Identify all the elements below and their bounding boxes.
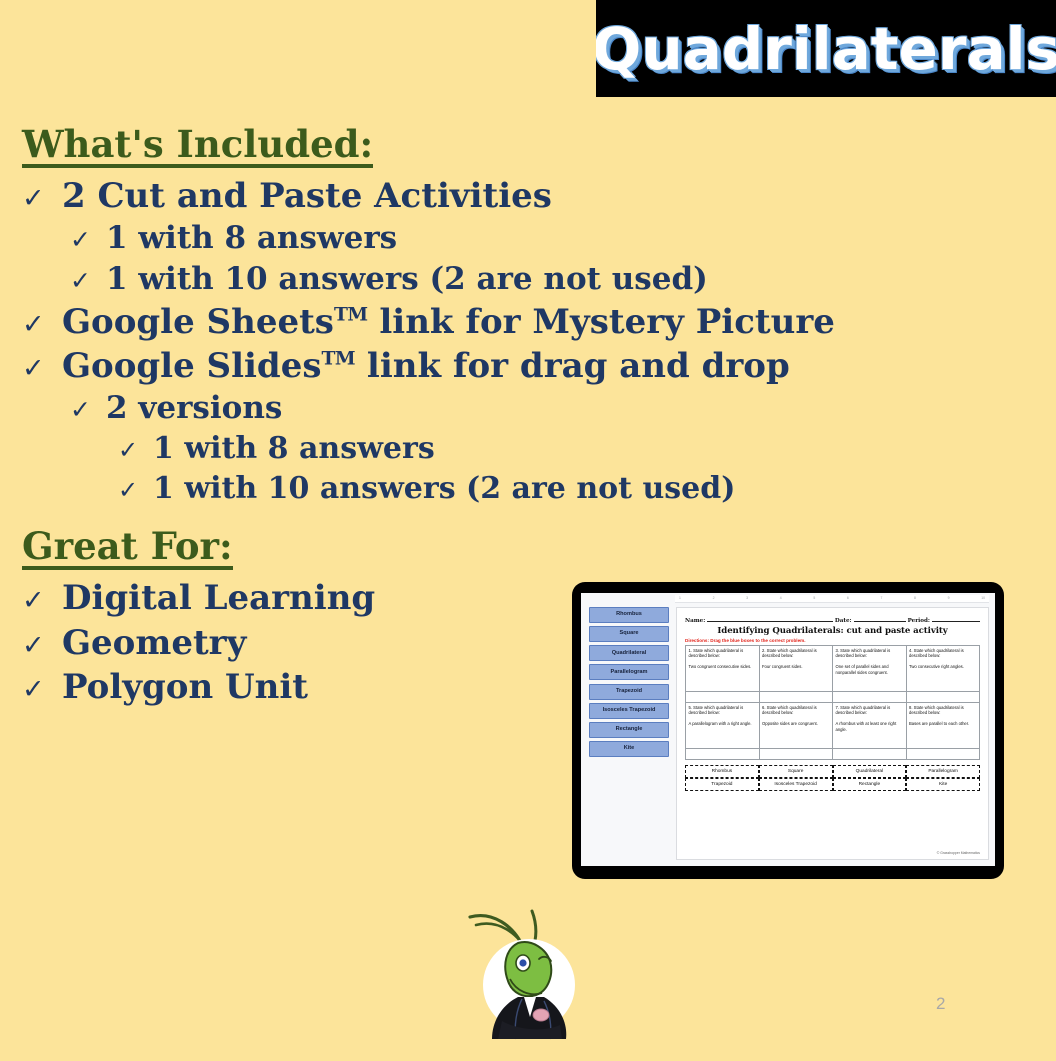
trademark-mark: TM (321, 348, 355, 370)
ruler-tick: 1 (679, 597, 681, 600)
problem-stem: 3. State which quadrilateral is describe… (836, 648, 904, 659)
drag-chip-kite[interactable]: Kite (589, 741, 669, 757)
problem-stem: 8. State which quadrilateral is describe… (909, 705, 977, 716)
list-item-label: 1 with 8 answers (106, 218, 397, 259)
list-item: ✓ 2 Cut and Paste Activities (22, 174, 902, 218)
answer-drop-zone[interactable] (833, 749, 907, 760)
answer-drop-zone[interactable] (760, 692, 834, 703)
answer-drop-zone[interactable] (833, 692, 907, 703)
worksheet-directions: Directions: Drag the blue boxes to the c… (685, 638, 980, 643)
list-item: ✓ 2 versions (22, 388, 902, 429)
problem-description: A parallelogram with a right angle. (689, 721, 757, 727)
drag-chip-parallelogram[interactable]: Parallelogram (589, 664, 669, 680)
list-item-label-suffix: link for Mystery Picture (368, 302, 835, 342)
problem-description: Bases are parallel to each other. (909, 721, 977, 727)
problem-stem: 7. State which quadrilateral is describe… (836, 705, 904, 716)
problem-description: Two congruent consecutive sides. (689, 664, 757, 670)
list-item-label: 2 Cut and Paste Activities (62, 174, 552, 218)
problem-description: A rhombus with at least one right angle. (836, 721, 904, 732)
answer-drop-zone[interactable] (686, 692, 760, 703)
problem-description: Opposite sides are congruent. (762, 721, 830, 727)
check-icon: ✓ (70, 393, 106, 426)
check-icon: ✓ (118, 475, 153, 507)
list-item-label: Google Slides (62, 346, 321, 386)
problem-cell: 2. State which quadrilateral is describe… (760, 646, 834, 692)
list-item-label: Polygon Unit (62, 665, 308, 709)
date-label: Date: (835, 618, 852, 624)
list-item-label: Geometry (62, 621, 246, 665)
problem-description: One set of parallel sides and nonparalle… (836, 664, 904, 675)
answer-bank: Rhombus Square Quadrilateral Parallelogr… (685, 765, 980, 792)
problem-description: Two consecutive right angles. (909, 664, 977, 670)
answer-drop-zone[interactable] (760, 749, 834, 760)
answer-bank-item[interactable]: Isosceles Trapezoid (759, 778, 833, 791)
problem-cell: 3. State which quadrilateral is describe… (833, 646, 907, 692)
title-banner: Quadrilaterals (596, 0, 1056, 97)
ruler-tick: 7 (880, 597, 882, 600)
list-item-label: 1 with 10 answers (2 are not used) (153, 469, 735, 509)
check-icon: ✓ (70, 223, 106, 256)
drag-chip-trapezoid[interactable]: Trapezoid (589, 684, 669, 700)
ruler-tick: 5 (813, 597, 815, 600)
answer-bank-item[interactable]: Kite (906, 778, 980, 791)
list-item: ✓ 1 with 10 answers (2 are not used) (22, 259, 902, 300)
document-ruler: 1 2 3 4 5 6 7 8 9 10 (675, 595, 989, 603)
answer-bank-item[interactable]: Square (759, 765, 833, 778)
ruler-tick: 8 (914, 597, 916, 600)
drag-chip-panel: Rhombus Square Quadrilateral Parallelogr… (589, 607, 669, 757)
check-icon: ✓ (22, 672, 62, 707)
problem-stem: 5. State which quadrilateral is describe… (689, 705, 757, 716)
name-label: Name: (685, 618, 705, 624)
problem-stem: 1. State which quadrilateral is describe… (689, 648, 757, 659)
list-item: ✓ Google SheetsTM link for Mystery Pictu… (22, 300, 902, 344)
worksheet-preview-frame: 1 2 3 4 5 6 7 8 9 10 Rhombus Square Quad… (572, 582, 1004, 879)
problem-stem: 2. State which quadrilateral is describe… (762, 648, 830, 659)
problem-stem: 6. State which quadrilateral is describe… (762, 705, 830, 716)
period-label: Period: (908, 618, 930, 624)
drag-chip-isosceles-trapezoid[interactable]: Isosceles Trapezoid (589, 703, 669, 719)
problem-cell: 1. State which quadrilateral is describe… (686, 646, 760, 692)
problem-stem: 4. State which quadrilateral is describe… (909, 648, 977, 659)
name-blank-line (707, 615, 833, 622)
drag-chip-rhombus[interactable]: Rhombus (589, 607, 669, 623)
problem-description: Four congruent sides. (762, 664, 830, 670)
whats-included-section: What's Included: ✓ 2 Cut and Paste Activ… (22, 126, 902, 508)
whats-included-heading: What's Included: (22, 126, 373, 168)
list-item-label: Google Sheets (62, 302, 334, 342)
list-item-label: 2 versions (106, 388, 282, 429)
problem-cell: 6. State which quadrilateral is describe… (760, 703, 834, 749)
ruler-tick: 10 (981, 597, 985, 600)
worksheet-preview-screen: 1 2 3 4 5 6 7 8 9 10 Rhombus Square Quad… (581, 593, 995, 866)
list-item-label: 1 with 10 answers (2 are not used) (106, 259, 708, 300)
list-item: ✓ 1 with 8 answers (22, 218, 902, 259)
list-item-label: 1 with 8 answers (153, 429, 435, 469)
answer-bank-item[interactable]: Rectangle (833, 778, 907, 791)
check-icon: ✓ (70, 264, 106, 297)
answer-drop-zone[interactable] (907, 749, 981, 760)
list-item: ✓ 1 with 8 answers (22, 429, 902, 469)
problem-cell: 8. State which quadrilateral is describe… (907, 703, 981, 749)
problem-grid: 1. State which quadrilateral is describe… (685, 645, 980, 760)
ruler-tick: 9 (948, 597, 950, 600)
period-blank-line (932, 615, 980, 622)
answer-bank-item[interactable]: Rhombus (685, 765, 759, 778)
list-item-label-suffix: link for drag and drop (355, 346, 790, 386)
answer-bank-item[interactable]: Quadrilateral (833, 765, 907, 778)
ruler-tick: 3 (746, 597, 748, 600)
ruler-tick: 6 (847, 597, 849, 600)
worksheet-document: Name: Date: Period: Identifying Quadrila… (676, 607, 989, 860)
list-item: ✓ 1 with 10 answers (2 are not used) (22, 469, 902, 509)
grasshopper-mascot-logo (462, 905, 597, 1056)
check-icon: ✓ (22, 583, 62, 618)
list-item: ✓ Google SlidesTM link for drag and drop (22, 344, 902, 388)
drag-chip-square[interactable]: Square (589, 626, 669, 642)
check-icon: ✓ (22, 181, 62, 216)
problem-cell: 5. State which quadrilateral is describe… (686, 703, 760, 749)
check-icon: ✓ (118, 435, 153, 467)
answer-drop-zone[interactable] (686, 749, 760, 760)
worksheet-copyright: © Grasshopper Mathematics (685, 849, 980, 855)
great-for-heading: Great For: (22, 528, 233, 570)
answer-drop-zone[interactable] (907, 692, 981, 703)
date-blank-line (854, 615, 906, 622)
trademark-mark: TM (334, 304, 368, 326)
drag-chip-rectangle[interactable]: Rectangle (589, 722, 669, 738)
answer-bank-item[interactable]: Trapezoid (685, 778, 759, 791)
worksheet-header-row: Name: Date: Period: (685, 615, 980, 624)
page-number: 2 (936, 994, 945, 1014)
ruler-tick: 2 (713, 597, 715, 600)
worksheet-title: Identifying Quadrilaterals: cut and past… (685, 626, 980, 636)
check-icon: ✓ (22, 628, 62, 663)
ruler-tick: 4 (780, 597, 782, 600)
page-title: Quadrilaterals (596, 20, 1056, 78)
list-item-label: Digital Learning (62, 576, 375, 620)
problem-cell: 7. State which quadrilateral is describe… (833, 703, 907, 749)
check-icon: ✓ (22, 307, 62, 342)
answer-bank-item[interactable]: Parallelogram (906, 765, 980, 778)
check-icon: ✓ (22, 351, 62, 386)
drag-chip-quadrilateral[interactable]: Quadrilateral (589, 645, 669, 661)
problem-cell: 4. State which quadrilateral is describe… (907, 646, 981, 692)
